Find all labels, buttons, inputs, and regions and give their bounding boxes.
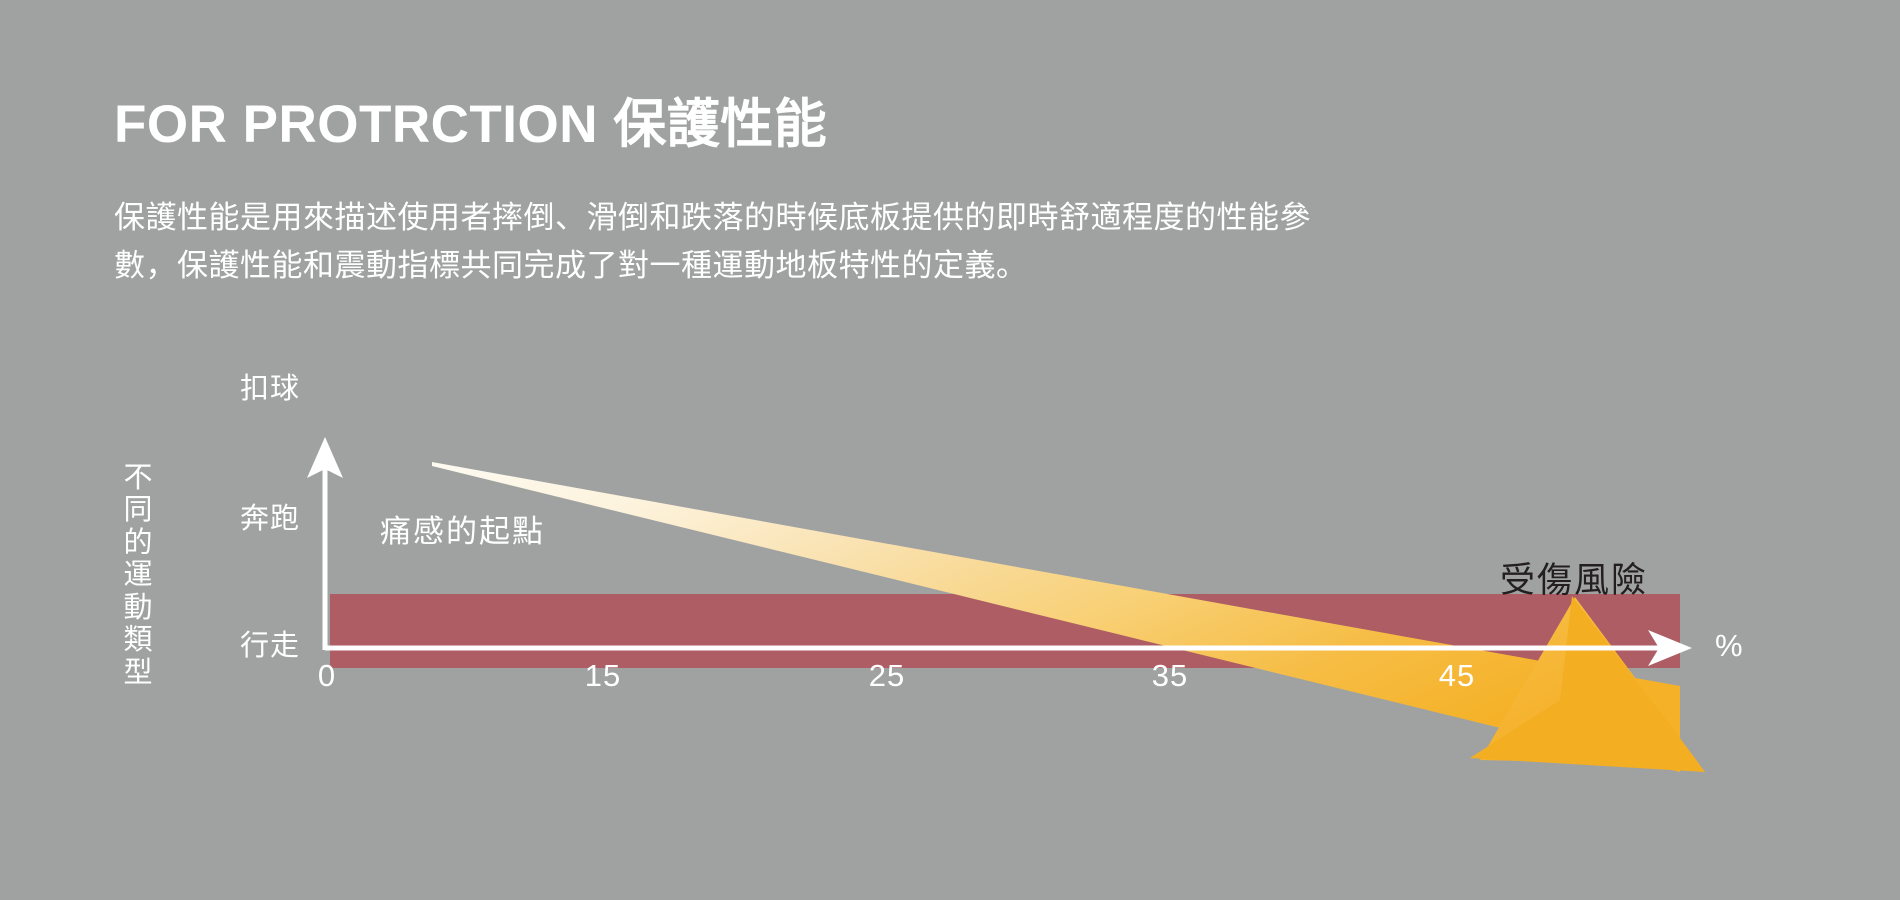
y-tick-label-spike: 扣球 <box>200 365 300 407</box>
y-axis-title-char: 動 <box>118 592 158 624</box>
x-axis-unit-label: % <box>1715 628 1743 664</box>
x-tick-label-35: 35 <box>1135 658 1205 694</box>
infographic-page: FOR PROTRCTION 保護性能 保護性能是用來描述使用者摔倒、滑倒和跌落… <box>0 0 1900 900</box>
y-axis-title-char: 類 <box>118 624 158 656</box>
x-tick-label-0: 0 <box>292 658 362 694</box>
y-axis-title-char: 運 <box>118 559 158 591</box>
y-axis-title-char: 不 <box>118 462 158 494</box>
y-axis-title: 不 同 的 運 動 類 型 <box>118 462 158 689</box>
x-tick-label-25: 25 <box>852 658 922 694</box>
y-axis-title-char: 同 <box>118 494 158 526</box>
description-line-1: 保護性能是用來描述使用者摔倒、滑倒和跌落的時候底板提供的即時舒適程度的性能參 <box>114 194 1814 242</box>
page-description: 保護性能是用來描述使用者摔倒、滑倒和跌落的時候底板提供的即時舒適程度的性能參 數… <box>114 194 1814 290</box>
page-title: FOR PROTRCTION 保護性能 <box>114 96 1814 154</box>
x-tick-label-45: 45 <box>1422 658 1492 694</box>
y-axis-title-char: 的 <box>118 527 158 559</box>
y-tick-label-run: 奔跑 <box>200 495 300 537</box>
y-tick-label-walk: 行走 <box>200 622 300 664</box>
x-tick-label-15: 15 <box>568 658 638 694</box>
protection-chart: 不 同 的 運 動 類 型 扣球 奔跑 行走 0 15 25 35 45 % 痛… <box>0 400 1900 860</box>
y-axis-title-char: 型 <box>118 657 158 689</box>
description-line-2: 數，保護性能和震動指標共同完成了對一種運動地板特性的定義。 <box>114 242 1814 290</box>
header-block: FOR PROTRCTION 保護性能 保護性能是用來描述使用者摔倒、滑倒和跌落… <box>114 96 1814 290</box>
pain-threshold-label: 痛感的起點 <box>380 506 545 551</box>
injury-risk-label: 受傷風險 <box>1500 552 1648 603</box>
